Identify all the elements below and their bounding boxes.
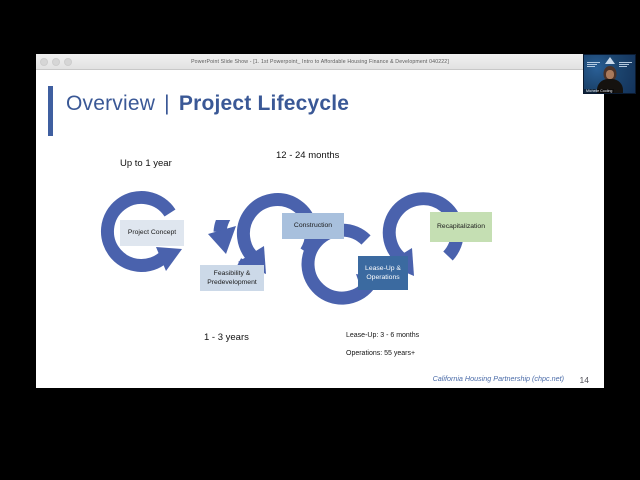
participant-face <box>606 70 614 79</box>
page-title-subject: Project Lifecycle <box>179 92 349 115</box>
slide-page-number: 14 <box>580 375 589 385</box>
title-accent-bar <box>48 86 53 136</box>
background-logo-right-icon <box>619 59 632 68</box>
powerpoint-window: PowerPoint Slide Show - [1. 1st Powerpoi… <box>36 54 604 388</box>
footer-source-citation: California Housing Partnership (chpc.net… <box>433 374 564 383</box>
time-label-phase-2: 1 - 3 years <box>204 332 249 343</box>
lifecycle-node-feasibility-predevelopment[interactable]: Feasibility & Predevelopment <box>200 265 264 291</box>
maximize-icon[interactable] <box>64 58 72 66</box>
close-icon[interactable] <box>40 58 48 66</box>
window-titlebar: PowerPoint Slide Show - [1. 1st Powerpoi… <box>36 54 604 70</box>
project-lifecycle-diagram: Up to 1 year 12 - 24 months 1 - 3 years … <box>36 160 604 388</box>
window-title: PowerPoint Slide Show - [1. 1st Powerpoi… <box>36 59 604 65</box>
slide-canvas: Overview | Project Lifecycle <box>36 70 604 388</box>
time-label-phase-3: 12 - 24 months <box>276 150 339 161</box>
page-title-separator: | <box>164 92 170 115</box>
lifecycle-node-recapitalization[interactable]: Recapitalization <box>430 212 492 242</box>
page-title-overview: Overview <box>66 92 155 115</box>
footnote-lease-up: Lease-Up: 3 - 6 months <box>346 332 419 339</box>
participant-name-label: Michelle Cooling <box>584 89 614 93</box>
lifecycle-node-lease-up-operations[interactable]: Lease-Up & Operations <box>358 256 408 290</box>
footnote-operations: Operations: 55 years+ <box>346 350 415 357</box>
minimize-icon[interactable] <box>52 58 60 66</box>
screen: PowerPoint Slide Show - [1. 1st Powerpoi… <box>0 0 640 480</box>
background-emblem-icon <box>605 57 615 64</box>
lifecycle-node-construction[interactable]: Construction <box>282 213 344 239</box>
time-label-phase-1: Up to 1 year <box>120 158 172 169</box>
window-controls[interactable] <box>40 54 72 69</box>
page-title: Overview | Project Lifecycle <box>66 92 349 116</box>
background-logo-left-icon <box>587 59 600 68</box>
lifecycle-node-project-concept[interactable]: Project Concept <box>120 220 184 246</box>
webcam-thumbnail[interactable]: Michelle Cooling <box>583 54 636 94</box>
